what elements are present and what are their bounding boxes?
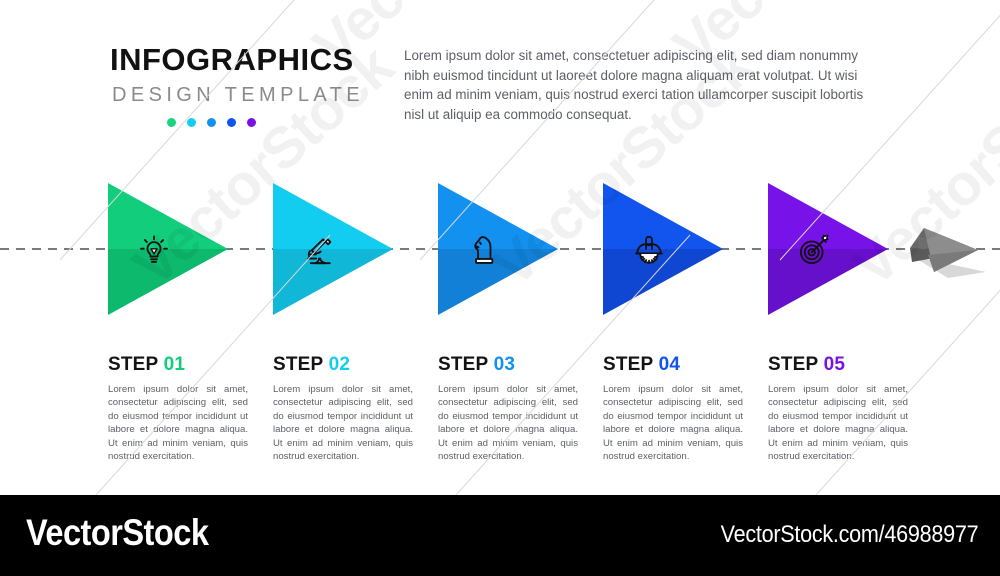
step-heading: STEP 03 bbox=[438, 355, 578, 374]
step-label: STEP bbox=[768, 354, 818, 375]
legend-dot-4 bbox=[227, 118, 236, 127]
dot-row bbox=[167, 118, 364, 127]
step-body: Lorem ipsum dolor sit amet, consectetur … bbox=[438, 383, 578, 463]
vectorstock-url: VectorStock.com/46988977 bbox=[720, 521, 978, 549]
step-body: Lorem ipsum dolor sit amet, consectetur … bbox=[768, 383, 908, 463]
step-label: STEP bbox=[108, 354, 158, 375]
header-block: INFOGRAPHICS DESIGN TEMPLATE bbox=[110, 44, 364, 127]
step-caption-3: STEP 03 Lorem ipsum dolor sit amet, cons… bbox=[438, 355, 578, 463]
paper-plane-icon bbox=[908, 222, 990, 278]
chess-knight-icon bbox=[463, 229, 505, 271]
step-heading: STEP 01 bbox=[108, 355, 248, 374]
step-label: STEP bbox=[603, 354, 653, 375]
legend-dot-2 bbox=[187, 118, 196, 127]
step-body: Lorem ipsum dolor sit amet, consectetur … bbox=[108, 383, 248, 463]
target-dart-icon bbox=[793, 229, 835, 271]
step-caption-4: STEP 04 Lorem ipsum dolor sit amet, cons… bbox=[603, 355, 743, 463]
watermark-footer-bar: VectorStock VectorStock.com/46988977 bbox=[0, 495, 1000, 576]
step-label: STEP bbox=[273, 354, 323, 375]
intro-paragraph: Lorem ipsum dolor sit amet, consectetuer… bbox=[404, 46, 882, 124]
lightbulb-icon bbox=[133, 229, 175, 271]
step-body: Lorem ipsum dolor sit amet, consectetur … bbox=[603, 383, 743, 463]
step-number: 05 bbox=[824, 354, 846, 375]
step-heading: STEP 04 bbox=[603, 355, 743, 374]
step-number: 04 bbox=[659, 354, 681, 375]
legend-dot-3 bbox=[207, 118, 216, 127]
step-number: 02 bbox=[329, 354, 351, 375]
infographic-canvas: VectorStock VectorStock VectorStock Vect… bbox=[0, 0, 1000, 495]
step-caption-2: STEP 02 Lorem ipsum dolor sit amet, cons… bbox=[273, 355, 413, 463]
page-subtitle: DESIGN TEMPLATE bbox=[112, 85, 364, 105]
vectorstock-logo: VectorStock bbox=[26, 512, 208, 554]
step-body: Lorem ipsum dolor sit amet, consectetur … bbox=[273, 383, 413, 463]
step-label: STEP bbox=[438, 354, 488, 375]
step-number: 01 bbox=[164, 354, 186, 375]
step-number: 03 bbox=[494, 354, 516, 375]
page-title: INFOGRAPHICS bbox=[110, 44, 364, 75]
legend-dot-5 bbox=[247, 118, 256, 127]
step-caption-5: STEP 05 Lorem ipsum dolor sit amet, cons… bbox=[768, 355, 908, 463]
step-heading: STEP 05 bbox=[768, 355, 908, 374]
step-heading: STEP 02 bbox=[273, 355, 413, 374]
step-caption-1: STEP 01 Lorem ipsum dolor sit amet, cons… bbox=[108, 355, 248, 463]
hard-hat-gear-icon bbox=[628, 229, 670, 271]
microscope-icon bbox=[298, 229, 340, 271]
legend-dot-1 bbox=[167, 118, 176, 127]
